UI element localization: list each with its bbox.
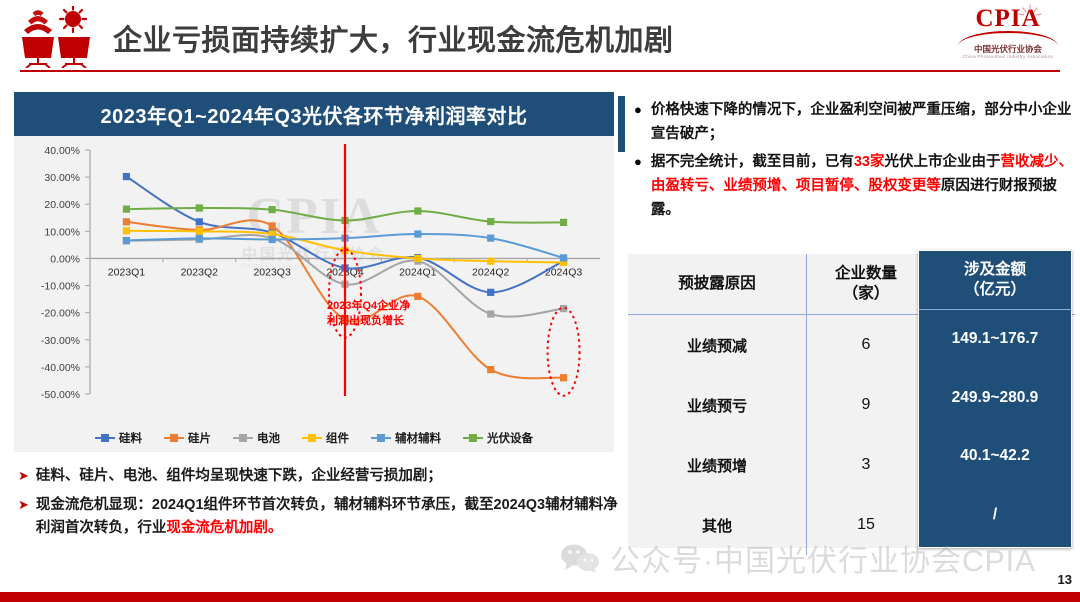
legend-item-组件: 组件: [302, 430, 349, 446]
line-chart-svg: 40.00%30.00%20.00%10.00%0.00%-10.00%-20.…: [14, 136, 614, 452]
y-axis-tick-label: -50.00%: [41, 389, 80, 401]
dot-bullet-icon: ●: [634, 98, 642, 122]
legend-line-swatch: [463, 437, 483, 440]
series-marker-光伏设备: [414, 207, 421, 214]
series-marker-硅片: [414, 293, 421, 300]
legend-marker-swatch: [170, 434, 178, 442]
body-text: 价格快速下降的情况下，企业盈利空间被严重压缩，部分中小企业宣告破产；: [651, 102, 1072, 142]
series-marker-硅片: [487, 366, 494, 373]
legend-marker-swatch: [101, 434, 109, 442]
series-marker-辅材辅料: [487, 235, 494, 242]
y-axis-tick-label: -40.00%: [41, 362, 80, 374]
sun-rays-icon: [1017, 4, 1043, 20]
legend-marker-swatch: [377, 434, 385, 442]
cpia-english-name: China Photovoltaic Industry Association: [955, 54, 1061, 60]
series-marker-组件: [487, 258, 494, 265]
series-marker-辅材辅料: [269, 236, 276, 243]
left-note-item: ➤硅料、硅片、电池、组件均呈现快速下跌，企业经营亏损加剧；: [18, 465, 628, 488]
body-text: 据不完全统计，截至目前，已有: [651, 154, 854, 170]
amount-column-cells: 149.1~176.7249.9~280.940.1~42.2/: [919, 310, 1071, 544]
y-axis-tick-label: 40.00%: [44, 145, 80, 157]
chart-plot-area: CPIA 中国光伏行业协会 China Photovoltaic Industr…: [14, 136, 614, 452]
y-axis-tick-label: 10.00%: [44, 226, 80, 238]
dot-bullet-icon: ●: [634, 150, 642, 174]
col-header-count-line2: （家）: [808, 284, 924, 304]
legend-marker-swatch: [469, 434, 477, 442]
amount-header-line1: 涉及金额: [964, 260, 1026, 280]
cell-amount: 249.9~280.9: [919, 369, 1071, 428]
amount-header-line2: （亿元）: [964, 280, 1026, 300]
series-marker-电池: [487, 310, 494, 317]
body-text: 硅料、硅片、电池、组件均呈现快速下跌，企业经营亏损加剧；: [36, 468, 442, 484]
body-text: 现金流危机显现：2024Q1组件环节首次转负，辅材辅料环节承压，截至2024Q3…: [36, 497, 618, 536]
right-bullet-item: ●价格快速下降的情况下，企业盈利空间被严重压缩，部分中小企业宣告破产；: [634, 98, 1074, 146]
legend-item-光伏设备: 光伏设备: [463, 430, 533, 446]
body-text: 光伏上市企业由于: [885, 154, 1001, 170]
solar-panel-icon: [18, 6, 96, 68]
legend-label: 光伏设备: [487, 430, 533, 446]
series-marker-光伏设备: [269, 206, 276, 213]
left-notes-list: ➤硅料、硅片、电池、组件均呈现快速下跌，企业经营亏损加剧；➤现金流危机显现：20…: [18, 465, 628, 546]
series-marker-组件: [196, 228, 203, 235]
series-marker-光伏设备: [560, 219, 567, 226]
legend-line-swatch: [302, 437, 322, 440]
left-note-item: ➤现金流危机显现：2024Q1组件环节首次转负，辅材辅料环节承压，截至2024Q…: [18, 494, 628, 540]
series-marker-辅材辅料: [196, 235, 203, 242]
chart-title-bar: 2023年Q1~2024年Q3光伏各环节净利润率对比: [14, 92, 614, 136]
cell-count: 3: [807, 435, 926, 495]
page-number: 13: [1058, 572, 1072, 587]
highlight-ellipse-2024Q3: [548, 308, 580, 396]
legend-item-硅料: 硅料: [95, 430, 142, 446]
col-header-reason: 预披露原因: [628, 254, 807, 315]
series-marker-光伏设备: [487, 218, 494, 225]
arrow-bullet-icon: ➤: [18, 494, 29, 516]
amount-highlight-column: 涉及金额 （亿元） 149.1~176.7249.9~280.940.1~42.…: [918, 250, 1072, 548]
chart-legend: 硅料硅片电池组件辅材辅料光伏设备: [14, 430, 614, 446]
legend-label: 硅料: [119, 430, 142, 446]
chart-title: 2023年Q1~2024年Q3光伏各环节净利润率对比: [100, 100, 527, 129]
legend-line-swatch: [164, 437, 184, 440]
series-marker-组件: [123, 227, 130, 234]
right-bullet-text: 价格快速下降的情况下，企业盈利空间被严重压缩，部分中小企业宣告破产；: [651, 98, 1074, 146]
wechat-icon: [560, 542, 600, 574]
series-marker-光伏设备: [123, 206, 130, 213]
x-axis-tick-label: 2024Q2: [472, 266, 510, 278]
legend-item-辅材辅料: 辅材辅料: [371, 430, 441, 446]
highlight-text: 33家: [854, 154, 885, 170]
cpia-acronym: CPIA: [955, 6, 1061, 31]
x-axis-tick-label: 2023Q2: [181, 266, 219, 278]
cpia-logo: CPIA 中国光伏行业协会 China Photovoltaic Industr…: [955, 6, 1061, 64]
page-header: 企业亏损面持续扩大，行业现金流危机加剧 CPIA 中国光伏行业协会 China …: [0, 0, 1080, 72]
legend-label: 辅材辅料: [395, 430, 441, 446]
series-marker-辅材辅料: [414, 230, 421, 237]
cpia-chinese-name: 中国光伏行业协会: [955, 44, 1061, 54]
cell-amount: 40.1~42.2: [919, 427, 1071, 486]
x-axis-tick-label: 2024Q1: [399, 266, 437, 278]
y-axis-tick-label: -20.00%: [41, 308, 80, 320]
legend-label: 组件: [326, 430, 349, 446]
series-marker-硅片: [560, 374, 567, 381]
cell-count: 9: [807, 375, 926, 435]
left-note-text: 硅料、硅片、电池、组件均呈现快速下跌，企业经营亏损加剧；: [36, 465, 442, 488]
chart-annotation-line: 利润出现负增长: [327, 314, 410, 329]
cell-reason: 其他: [628, 495, 807, 555]
cell-count: 15: [807, 495, 926, 555]
chart-annotation-line: 2023年Q4企业净: [327, 299, 410, 314]
cell-count: 6: [807, 315, 926, 376]
legend-item-硅片: 硅片: [164, 430, 211, 446]
cell-reason: 业绩预增: [628, 435, 807, 495]
x-axis-tick-label: 2023Q1: [108, 266, 146, 278]
legend-label: 电池: [257, 430, 280, 446]
right-bullet-text: 据不完全统计，截至目前，已有33家光伏上市企业由于营收减少、由盈转亏、业绩预增、…: [651, 150, 1074, 222]
left-note-text: 现金流危机显现：2024Q1组件环节首次转负，辅材辅料环节承压，截至2024Q3…: [36, 494, 628, 540]
legend-marker-swatch: [308, 434, 316, 442]
legend-label: 硅片: [188, 430, 211, 446]
disclosure-table-wrap: 预披露原因 企业数量 （家） 业绩预减6业绩预亏9业绩预增3其他15 涉及金额 …: [628, 254, 1068, 548]
series-marker-硅料: [196, 218, 203, 225]
x-axis-tick-label: 2023Q3: [253, 266, 291, 278]
chart-panel: 2023年Q1~2024年Q3光伏各环节净利润率对比 CPIA 中国光伏行业协会…: [14, 92, 614, 452]
right-bullets-list: ●价格快速下降的情况下，企业盈利空间被严重压缩，部分中小企业宣告破产；●据不完全…: [634, 98, 1074, 226]
series-marker-硅料: [123, 173, 130, 180]
chart-annotation: 2023年Q4企业净利润出现负增长: [327, 299, 410, 329]
header-divider: [20, 70, 1060, 72]
y-axis-tick-label: 30.00%: [44, 172, 80, 184]
y-axis-tick-label: -30.00%: [41, 335, 80, 347]
legend-marker-swatch: [239, 434, 247, 442]
cell-reason: 业绩预亏: [628, 375, 807, 435]
arrow-bullet-icon: ➤: [18, 465, 29, 487]
legend-line-swatch: [233, 437, 253, 440]
series-marker-辅材辅料: [123, 237, 130, 244]
series-marker-硅料: [487, 289, 494, 296]
cell-amount: /: [919, 486, 1071, 545]
right-accent-bar: [618, 96, 625, 152]
series-marker-硅片: [269, 222, 276, 229]
highlight-text: 现金流危机加剧。: [166, 520, 282, 536]
right-bullet-item: ●据不完全统计，截至目前，已有33家光伏上市企业由于营收减少、由盈转亏、业绩预增…: [634, 150, 1074, 222]
legend-line-swatch: [95, 437, 115, 440]
cell-amount: 149.1~176.7: [919, 310, 1071, 369]
cell-reason: 业绩预减: [628, 315, 807, 376]
y-axis-tick-label: -10.00%: [41, 281, 80, 293]
legend-item-电池: 电池: [233, 430, 280, 446]
series-marker-光伏设备: [196, 204, 203, 211]
col-header-count: 企业数量 （家）: [807, 254, 926, 315]
footer-bar: [0, 592, 1080, 602]
col-header-count-line1: 企业数量: [808, 264, 924, 284]
series-marker-组件: [414, 255, 421, 262]
page-title: 企业亏损面持续扩大，行业现金流危机加剧: [113, 17, 674, 59]
legend-line-swatch: [371, 437, 391, 440]
series-marker-辅材辅料: [560, 254, 567, 261]
y-axis-tick-label: 0.00%: [50, 253, 80, 265]
series-marker-硅片: [123, 218, 130, 225]
y-axis-tick-label: 20.00%: [44, 199, 80, 211]
amount-column-header: 涉及金额 （亿元）: [919, 251, 1071, 310]
